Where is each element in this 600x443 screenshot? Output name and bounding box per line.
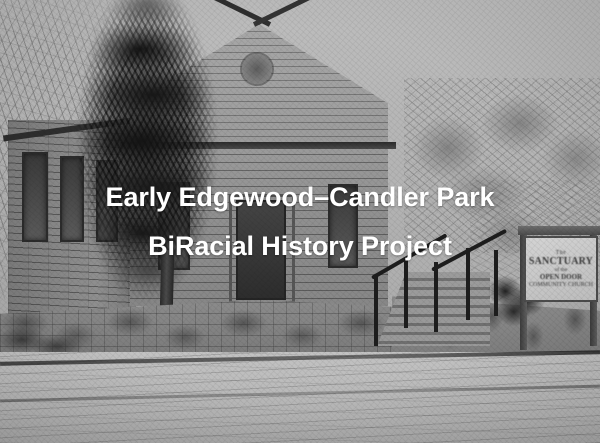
- chapel-window: [328, 184, 358, 268]
- church-sign: The SANCTUARY of the OPEN DOOR COMMUNITY…: [524, 236, 598, 302]
- church-sign-text: The SANCTUARY of the OPEN DOOR COMMUNITY…: [526, 238, 596, 300]
- handrail-post: [374, 276, 378, 346]
- church-sign-line-2: SANCTUARY: [529, 257, 593, 267]
- evergreen-tree: [72, 0, 222, 306]
- church-sign-line-4: OPEN DOOR: [540, 274, 582, 281]
- sign-header-board: [518, 226, 600, 235]
- chapel-window: [22, 152, 48, 242]
- chapel-entrance-door: [236, 200, 286, 300]
- church-sign-line-1: The: [556, 250, 567, 256]
- handrail-post: [434, 262, 438, 332]
- handrail-post: [466, 248, 470, 320]
- church-sign-line-5: COMMUNITY CHURCH: [529, 282, 593, 288]
- event-banner-image: The SANCTUARY of the OPEN DOOR COMMUNITY…: [0, 0, 600, 443]
- handrail-post: [404, 260, 408, 328]
- chapel-gable-vent: [242, 54, 272, 84]
